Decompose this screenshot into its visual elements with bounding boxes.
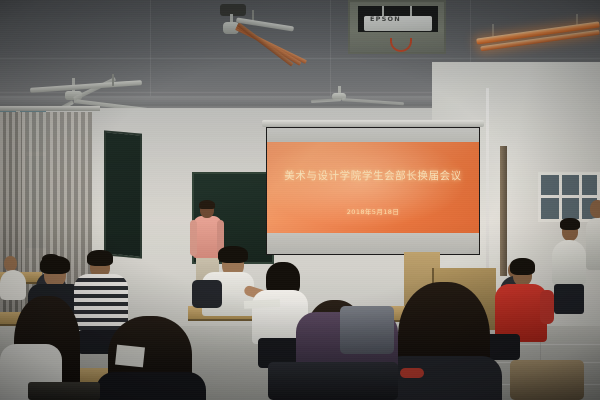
ceiling-fan	[316, 86, 412, 108]
projection-screen: 美术与设计学院学生会部长换届会议 2018年5月18日	[266, 127, 480, 255]
backpack	[268, 362, 398, 400]
backpack-strap	[400, 368, 424, 378]
notebook	[28, 382, 100, 400]
backpack	[340, 306, 394, 354]
slide-date: 2018年5月18日	[267, 206, 479, 216]
slide-title: 美术与设计学院学生会部长换届会议	[267, 168, 479, 183]
papers	[115, 345, 145, 368]
projector-cage: EPSON	[348, 0, 446, 54]
blackboard-side	[104, 130, 142, 258]
classroom-photo: EPSON	[0, 0, 600, 400]
curtain-rail	[0, 106, 100, 111]
projector-brand-label: EPSON	[370, 15, 401, 23]
projector-hook-icon	[390, 38, 412, 52]
bag-right	[510, 360, 584, 400]
backpack	[192, 280, 222, 308]
wall-pipe	[500, 146, 507, 276]
screen-roller	[262, 120, 484, 127]
